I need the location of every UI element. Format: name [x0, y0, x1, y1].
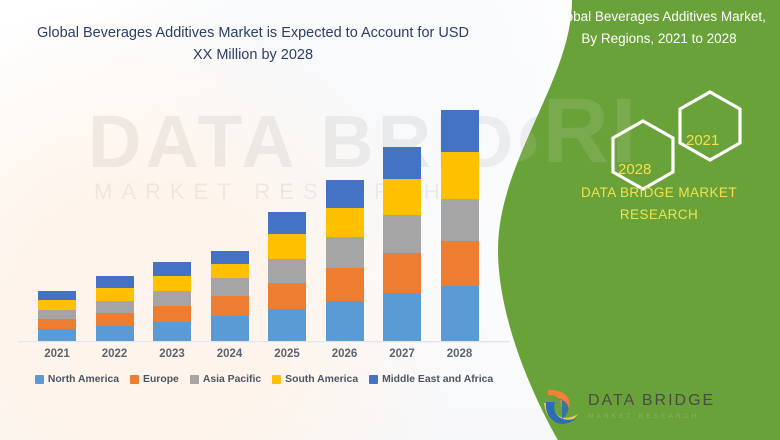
segment-2022-asia-pacific [96, 301, 134, 313]
segment-2025-south-america [268, 234, 306, 259]
segment-2028-europe [441, 241, 479, 286]
segment-2024-south-america [211, 264, 249, 278]
segment-2028-asia-pacific [441, 199, 479, 241]
legend-swatch-icon [35, 375, 44, 384]
legend-label: South America [285, 374, 358, 385]
segment-2022-middle-east-and-africa [96, 276, 134, 288]
legend-item-middle-east-and-africa[interactable]: Middle East and Africa [369, 374, 493, 385]
segment-2026-middle-east-and-africa [326, 180, 364, 208]
segment-2025-north-america [268, 309, 306, 341]
dbmr-logo: DATA BRIDGE MARKET RESEARCH [538, 386, 728, 430]
segment-2021-south-america [38, 300, 76, 310]
segment-2021-europe [38, 319, 76, 329]
segment-2027-south-america [383, 179, 421, 215]
segment-2023-asia-pacific [153, 291, 191, 306]
segment-2028-middle-east-and-africa [441, 110, 479, 152]
legend-item-south-america[interactable]: South America [272, 374, 358, 385]
x-label-2025: 2025 [259, 348, 315, 360]
legend-label: North America [48, 374, 119, 385]
legend-swatch-icon [130, 375, 139, 384]
legend-item-asia-pacific[interactable]: Asia Pacific [190, 374, 261, 385]
legend-label: Asia Pacific [203, 374, 261, 385]
legend-item-europe[interactable]: Europe [130, 374, 179, 385]
logo-tagline: MARKET RESEARCH [588, 413, 715, 420]
bar-2022 [96, 276, 134, 341]
segment-2028-north-america [441, 286, 479, 341]
segment-2026-europe [326, 268, 364, 301]
axis-baseline-shadow [18, 342, 510, 343]
x-label-2027: 2027 [374, 348, 430, 360]
segment-2023-south-america [153, 276, 191, 291]
segment-2025-middle-east-and-africa [268, 212, 306, 234]
logo-text: DATA BRIDGE MARKET RESEARCH [588, 392, 715, 420]
segment-2021-north-america [38, 329, 76, 341]
legend-swatch-icon [190, 375, 199, 384]
segment-2022-north-america [96, 326, 134, 341]
x-label-2028: 2028 [432, 348, 488, 360]
legend-swatch-icon [272, 375, 281, 384]
segment-2027-europe [383, 253, 421, 293]
legend-swatch-icon [369, 375, 378, 384]
segment-2021-asia-pacific [38, 310, 76, 319]
legend-label: Europe [143, 374, 179, 385]
legend-label: Middle East and Africa [382, 374, 493, 385]
x-label-2021: 2021 [29, 348, 85, 360]
bar-2027 [383, 147, 421, 341]
infographic-root: DATA BRIDGE MARKET RESEARCH BRI Global B… [0, 0, 780, 440]
segment-2026-asia-pacific [326, 237, 364, 268]
x-axis-labels: 20212022202320242025202620272028 [20, 348, 510, 368]
x-label-2026: 2026 [317, 348, 373, 360]
bar-2028 [441, 110, 479, 341]
legend-item-north-america[interactable]: North America [35, 374, 119, 385]
segment-2023-north-america [153, 322, 191, 341]
segment-2024-north-america [211, 316, 249, 341]
x-label-2024: 2024 [202, 348, 258, 360]
bar-2021 [38, 291, 76, 341]
bar-2023 [153, 262, 191, 341]
logo-name: DATA BRIDGE [588, 392, 715, 410]
segment-2027-middle-east-and-africa [383, 147, 421, 179]
bar-2025 [268, 212, 306, 341]
segment-2023-europe [153, 306, 191, 322]
bar-2024 [211, 251, 249, 341]
segment-2022-south-america [96, 288, 134, 301]
segment-2024-middle-east-and-africa [211, 251, 249, 264]
x-label-2022: 2022 [87, 348, 143, 360]
segment-2027-asia-pacific [383, 215, 421, 253]
segment-2025-europe [268, 283, 306, 309]
segment-2026-south-america [326, 208, 364, 237]
segment-2023-middle-east-and-africa [153, 262, 191, 276]
segment-2025-asia-pacific [268, 259, 306, 283]
segment-2022-europe [96, 313, 134, 326]
segment-2024-asia-pacific [211, 278, 249, 296]
segment-2021-middle-east-and-africa [38, 291, 76, 300]
segment-2024-europe [211, 296, 249, 316]
logo-mark-icon [538, 386, 584, 428]
chart-legend: North AmericaEuropeAsia PacificSouth Ame… [18, 374, 510, 385]
x-label-2023: 2023 [144, 348, 200, 360]
bar-2026 [326, 180, 364, 341]
segment-2028-south-america [441, 152, 479, 199]
segment-2026-north-america [326, 301, 364, 341]
segment-2027-north-america [383, 293, 421, 341]
